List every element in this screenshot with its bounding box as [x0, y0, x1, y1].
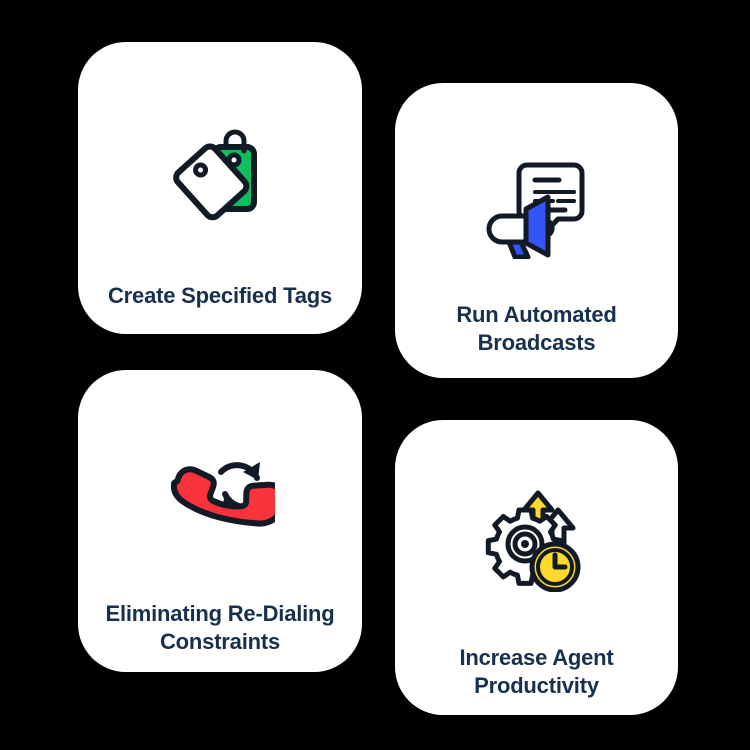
- feature-card-increase-agent-productivity[interactable]: Increase Agent Productivity: [395, 420, 678, 715]
- feature-cards-canvas: Create Specified Tags: [0, 0, 750, 750]
- card-label: Increase Agent Productivity: [395, 644, 678, 700]
- tags-icon: [78, 98, 362, 248]
- feature-card-eliminating-re-dialing-constraints[interactable]: Eliminating Re-Dialing Constraints: [78, 370, 362, 672]
- card-label: Run Automated Broadcasts: [395, 301, 678, 357]
- megaphone-announcement-icon: [395, 135, 678, 275]
- feature-card-create-specified-tags[interactable]: Create Specified Tags: [78, 42, 362, 334]
- gear-clock-arrows-icon: [395, 470, 678, 610]
- card-label: Create Specified Tags: [78, 282, 362, 310]
- card-label: Eliminating Re-Dialing Constraints: [78, 600, 362, 656]
- feature-card-run-automated-broadcasts[interactable]: Run Automated Broadcasts: [395, 83, 678, 378]
- phone-redial-icon: [78, 422, 362, 562]
